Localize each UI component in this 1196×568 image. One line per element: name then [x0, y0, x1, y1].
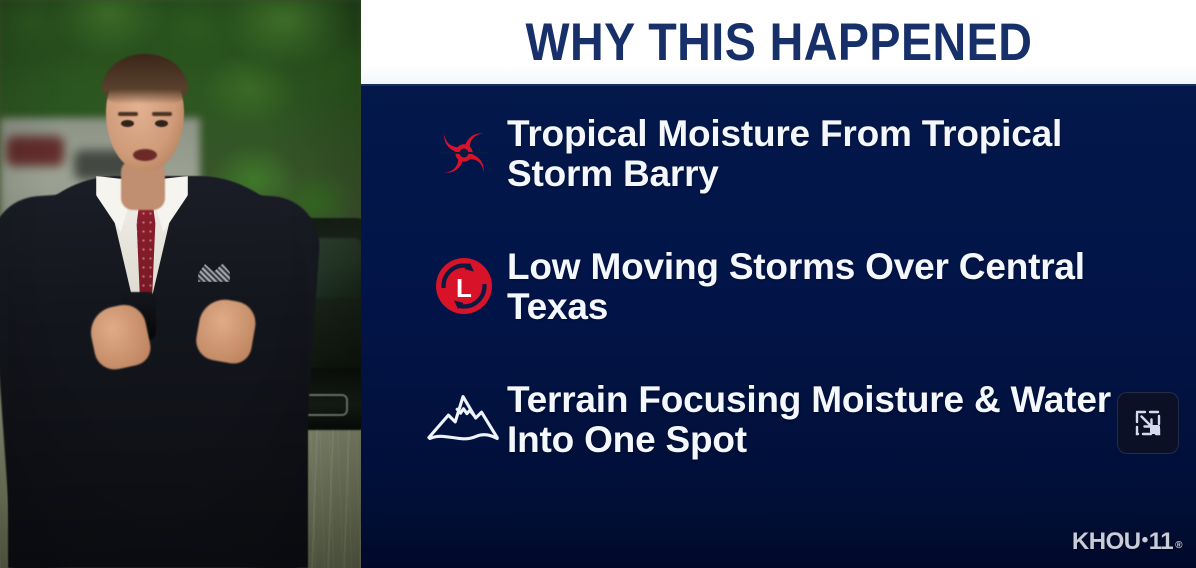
station-logo: KHOU • 11 ®	[1072, 528, 1182, 556]
anchor-mouth	[133, 149, 157, 161]
anchor-eyebrow-right	[152, 112, 172, 116]
graphic-title-bar: WHY THIS HAPPENED	[361, 0, 1196, 86]
picture-in-picture-icon	[1131, 406, 1165, 440]
station-logo-separator: •	[1142, 530, 1148, 552]
svg-text:L: L	[456, 273, 472, 303]
station-call-letters: KHOU	[1072, 528, 1141, 556]
anchor-eye-left	[121, 120, 134, 127]
low-pressure-icon: L	[421, 243, 507, 329]
station-channel-number: 11	[1149, 528, 1173, 556]
list-item-label: Low Moving Storms Over Central Texas	[507, 241, 1162, 327]
page-title: WHY THIS HAPPENED	[525, 16, 1032, 69]
background-car-distant	[6, 136, 64, 166]
list-item: L Low Moving Storms Over Central Texas	[421, 241, 1162, 329]
hurricane-icon	[421, 110, 507, 196]
mountain-icon	[421, 376, 507, 462]
list-item-label: Terrain Focusing Moisture & Water Into O…	[507, 374, 1162, 460]
live-video-feed[interactable]	[0, 0, 361, 568]
broadcast-screen: WHY THIS HAPPENED Tropical Moisture From…	[0, 0, 1196, 568]
weather-graphic-panel: WHY THIS HAPPENED Tropical Moisture From…	[361, 0, 1196, 568]
anchor-eyebrow-left	[118, 112, 138, 116]
anchor-lapel-mic	[169, 237, 176, 246]
bullet-list: Tropical Moisture From Tropical Storm Ba…	[361, 86, 1196, 568]
list-item-label: Tropical Moisture From Tropical Storm Ba…	[507, 108, 1162, 194]
picture-in-picture-button[interactable]	[1117, 392, 1179, 454]
station-registered-mark: ®	[1175, 540, 1182, 551]
list-item: Tropical Moisture From Tropical Storm Ba…	[421, 108, 1162, 196]
list-item: Terrain Focusing Moisture & Water Into O…	[421, 374, 1162, 462]
anchor-eye-right	[155, 120, 168, 127]
